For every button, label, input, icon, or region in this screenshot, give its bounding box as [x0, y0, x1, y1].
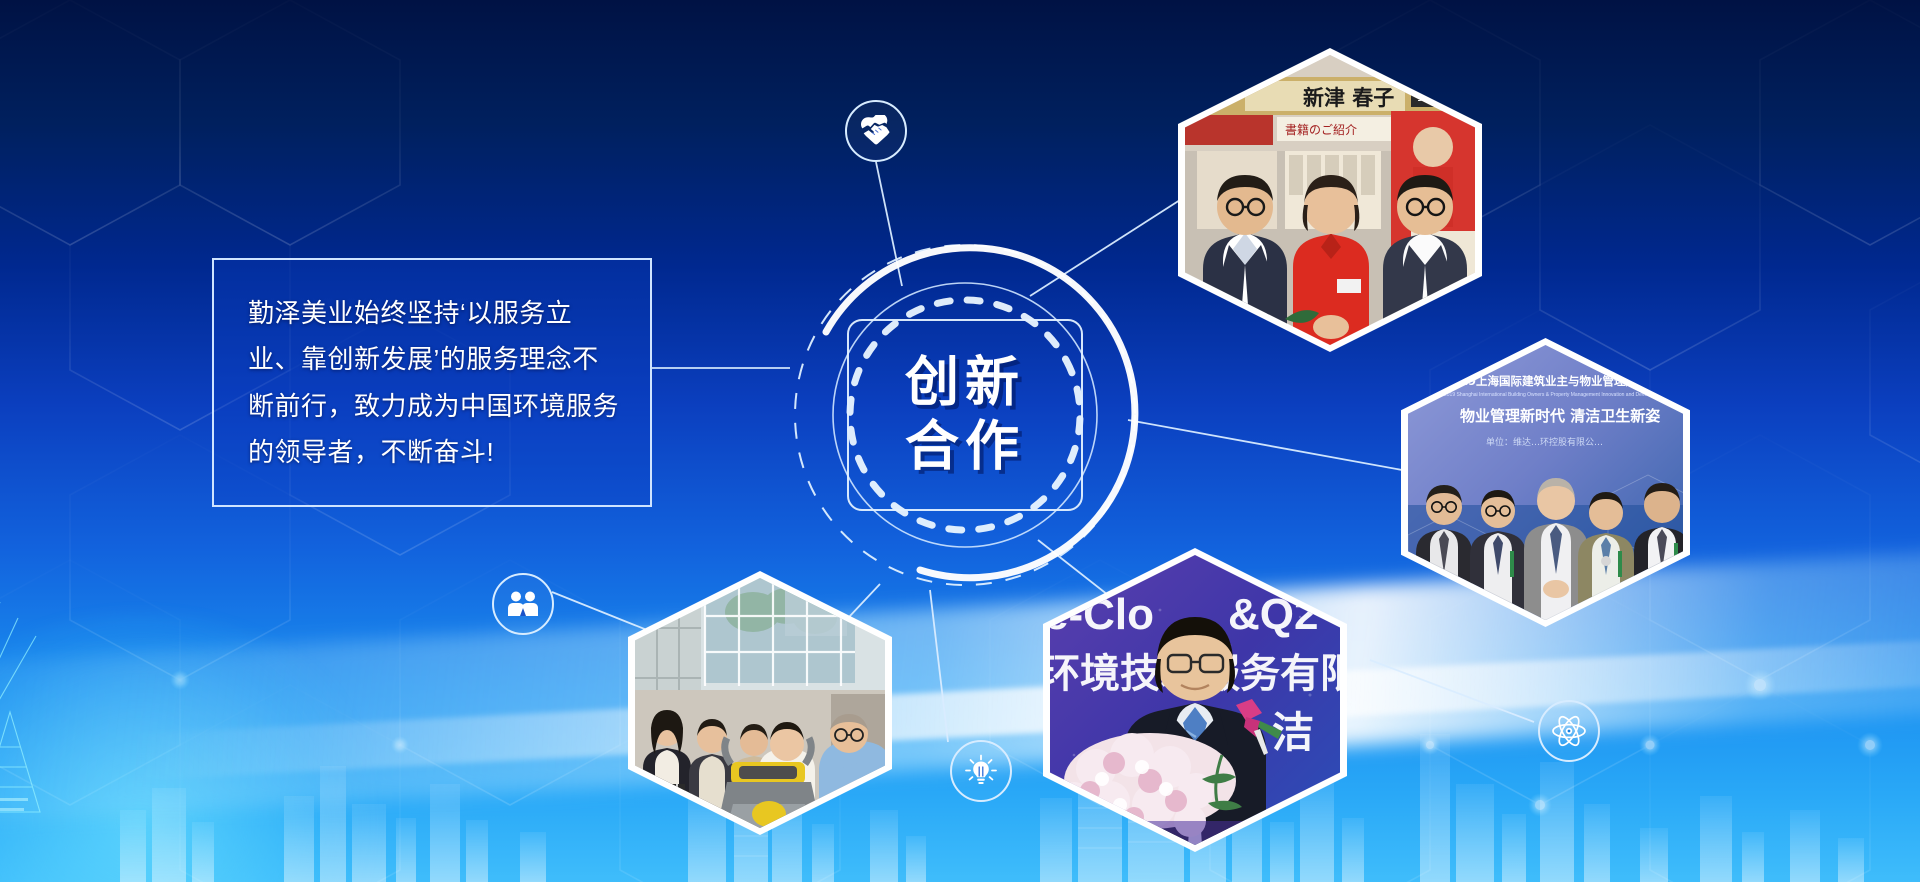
left-glow-halo	[0, 612, 400, 882]
center-title: 创新 合作	[790, 351, 1140, 478]
quote-text: 勤泽美业始终坚持‘以服务立业、靠创新发展’的服务理念不断前行，致力成为中国环境服…	[248, 290, 622, 475]
svg-text:&Q2: &Q2	[1228, 590, 1318, 639]
badge-bulb[interactable]	[950, 740, 1012, 802]
hex-image-clip: 新津 春子 全仕事 書籍のご紹介	[1185, 55, 1475, 345]
two-people-icon	[506, 590, 540, 618]
banner-stage: 勤泽美业始终坚持‘以服务立业、靠创新发展’的服务理念不断前行，致力成为中国环境服…	[0, 0, 1920, 882]
atom-science-icon	[1551, 713, 1587, 749]
svg-text:書籍のご紹介: 書籍のご紹介	[1285, 122, 1357, 137]
badge-atom[interactable]	[1538, 700, 1600, 762]
left-data-sparkle	[0, 562, 230, 842]
quote-box: 勤泽美业始终坚持‘以服务立业、靠创新发展’的服务理念不断前行，致力成为中国环境服…	[212, 258, 652, 507]
lightbulb-idea-icon	[964, 754, 998, 788]
handshake-heart-icon	[859, 115, 893, 147]
svg-text:新津 春子: 新津 春子	[1303, 86, 1394, 110]
photo-japan-visit[interactable]: 新津 春子 全仕事 書籍のご紹介	[1185, 55, 1475, 345]
svg-text:物业管理新时代 清洁卫生新姿: 物业管理新时代 清洁卫生新姿	[1460, 407, 1660, 425]
center-emblem[interactable]: 创新 合作	[790, 240, 1140, 590]
hex-image-clip: e-Clo &Q2 环境技术服务有限 洁 服务业联盟系列活	[1050, 555, 1340, 845]
photo-2019-shanghai-forum[interactable]: 2019上海国际建筑业主与物业管理产业创新发 2019 Shanghai Int…	[1408, 345, 1683, 620]
badge-handshake[interactable]	[845, 100, 907, 162]
photo-keynote-speaker[interactable]: e-Clo &Q2 环境技术服务有限 洁 服务业联盟系列活	[1050, 555, 1340, 845]
svg-text:2019 Shanghai International Bu: 2019 Shanghai International Building Own…	[1444, 392, 1666, 398]
photo-equipment-demo[interactable]	[635, 578, 885, 828]
badge-people[interactable]	[492, 573, 554, 635]
svg-text:单位：维达…环控股有限公…: 单位：维达…环控股有限公…	[1486, 436, 1603, 448]
